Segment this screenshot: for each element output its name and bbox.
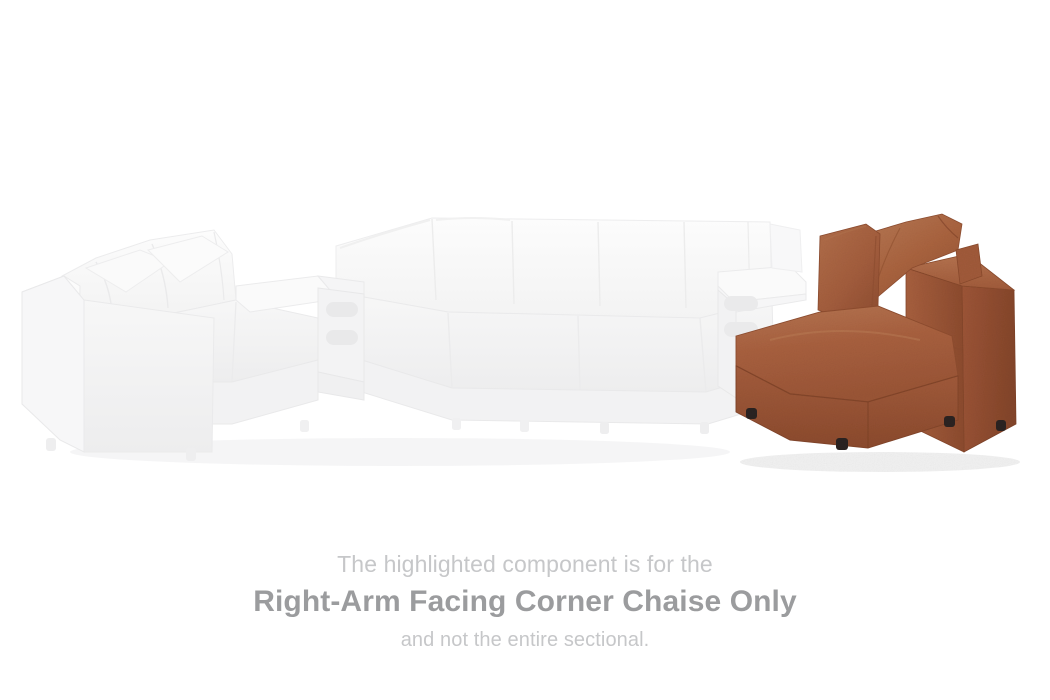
chaise-floor-shadow: [740, 452, 1020, 472]
ghosted-sectional-group: [22, 218, 806, 466]
cupholder-slot-icon: [326, 330, 358, 345]
cupholder-slot-icon: [326, 302, 358, 317]
caption-line-bottom: and not the entire sectional.: [0, 625, 1050, 655]
chaise-back-cushion-left: [818, 224, 880, 320]
caption-line-main: Right-Arm Facing Corner Chaise Only: [0, 582, 1050, 622]
product-illustration: [0, 0, 1050, 520]
caption-line-top: The highlighted component is for the: [0, 548, 1050, 580]
caption-block: The highlighted component is for the Rig…: [0, 548, 1050, 655]
ghost-back-far-right: [770, 224, 802, 272]
cupholder-slot-icon: [724, 296, 758, 311]
product-highlight-page: The highlighted component is for the Rig…: [0, 0, 1050, 700]
sectional-sofa-diagram: [0, 0, 1050, 520]
ghost-back-run-right: [336, 218, 772, 318]
